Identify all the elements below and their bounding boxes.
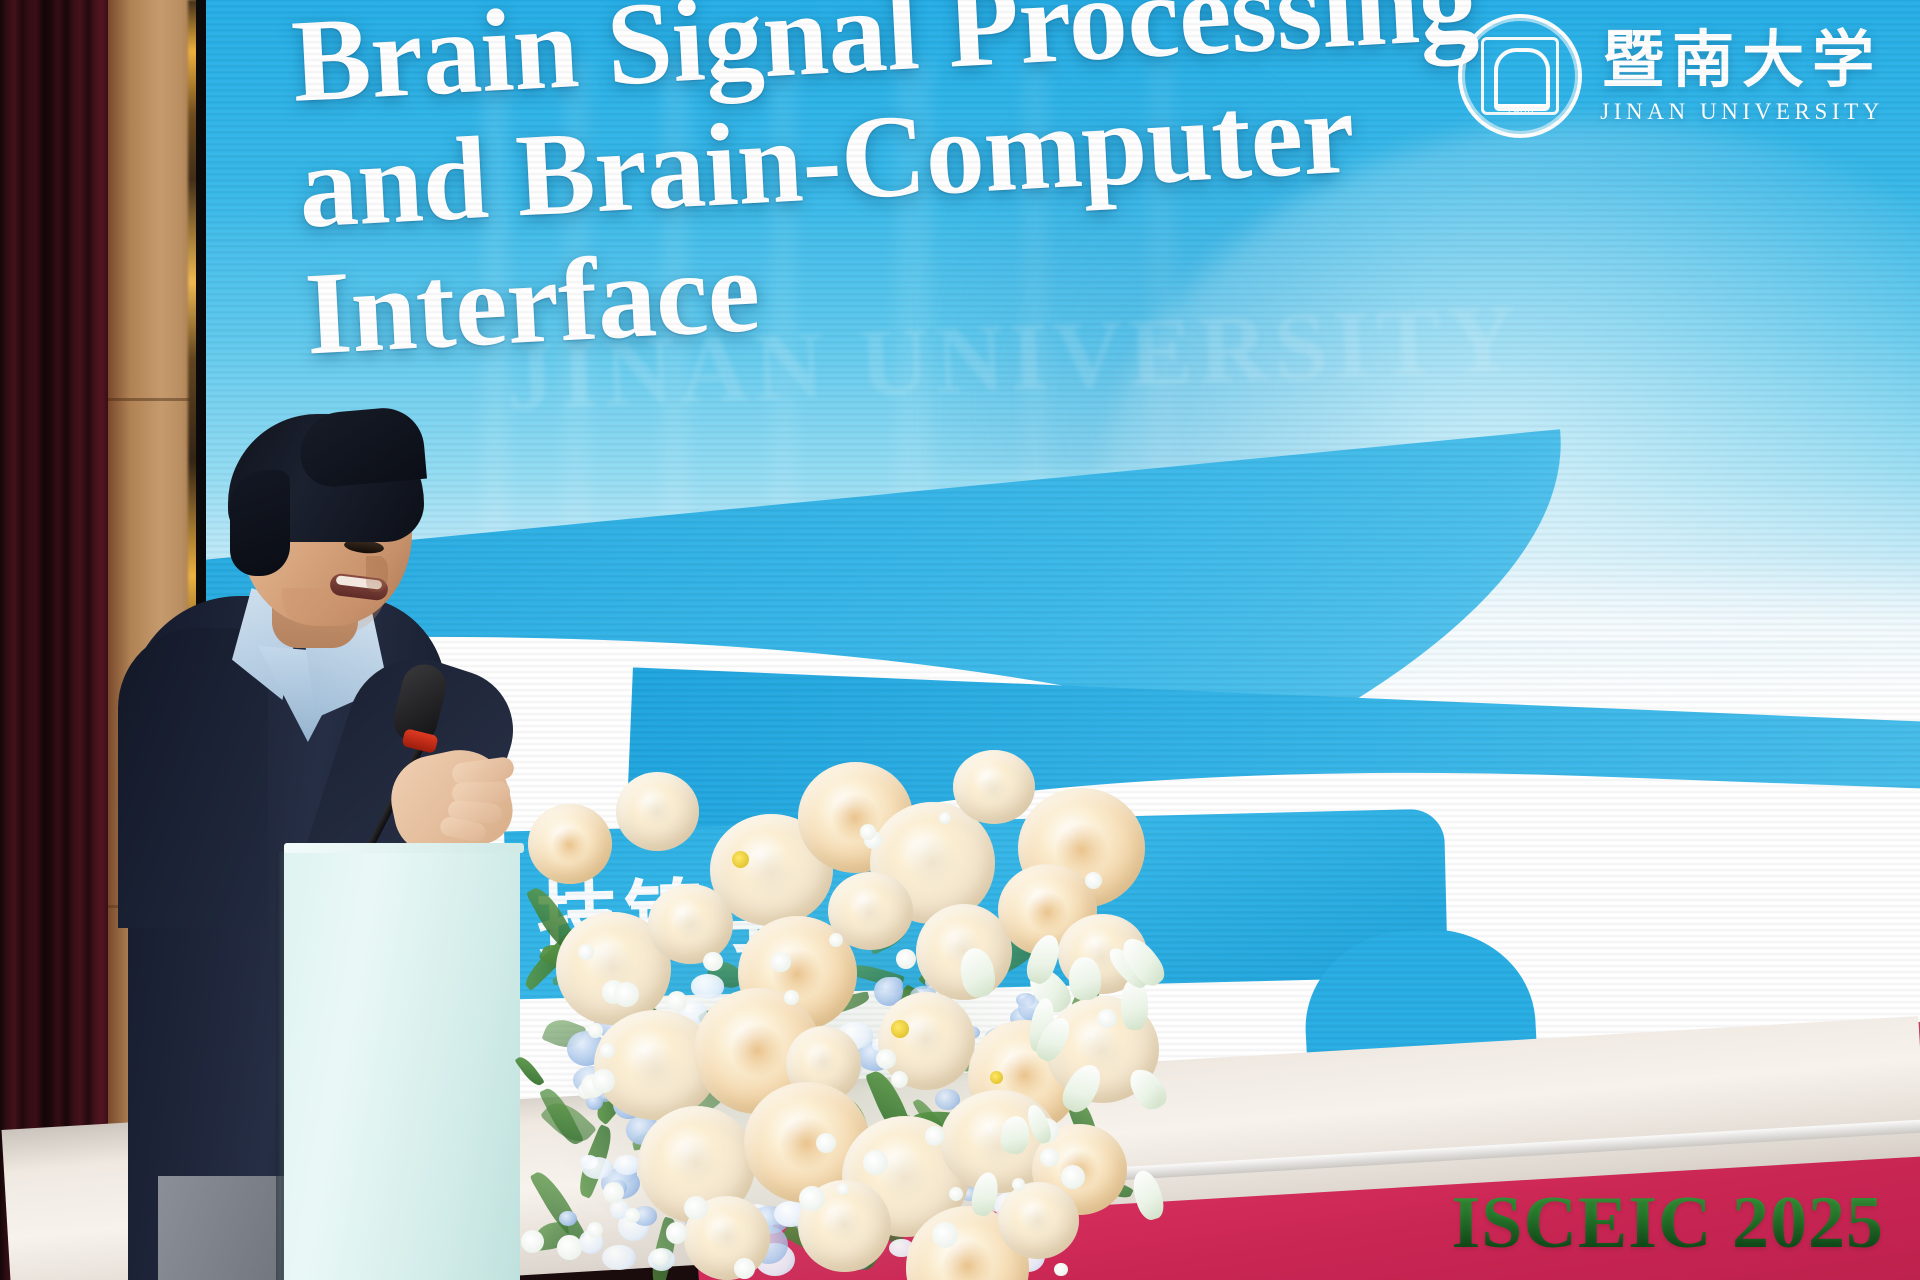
rose-center <box>906 837 958 889</box>
rose-center <box>673 908 709 944</box>
hydrangea-floret <box>691 974 725 998</box>
podium-top-surface <box>284 843 524 853</box>
rose-center <box>630 1045 682 1097</box>
jinan-university-logo: 1906 暨南大学 JINAN UNIVERSITY <box>1458 14 1884 138</box>
filler-bud <box>1061 1165 1085 1189</box>
rose-center <box>808 1047 840 1079</box>
seal-bell-icon <box>1494 48 1550 111</box>
filler-bud <box>1012 1178 1025 1191</box>
filler-bud <box>891 1071 908 1088</box>
speaker-hair-side <box>230 470 290 576</box>
filler-bud <box>703 952 723 972</box>
filler-bud <box>652 1249 668 1265</box>
seal-year: 1906 <box>1462 106 1578 118</box>
hydrangea-floret <box>602 1245 635 1270</box>
filler-bud <box>666 1222 687 1243</box>
rose-center <box>825 1206 864 1245</box>
filler-bud <box>784 990 799 1005</box>
filler-bud <box>588 1023 603 1038</box>
rose-center <box>1021 1205 1055 1239</box>
logo-wordmark: 暨南大学 JINAN UNIVERSITY <box>1600 29 1884 123</box>
filler-bud <box>1054 1263 1068 1277</box>
filler-bud <box>860 824 876 840</box>
filler-bud <box>990 1071 1003 1084</box>
filler-bud <box>891 1020 909 1038</box>
speaker-nose <box>366 556 388 592</box>
screenshot-root: JINAN UNIVERSITY 技锦学 Brain Signal Proces… <box>0 0 1920 1280</box>
filler-bud <box>1040 1148 1059 1167</box>
rose-center <box>906 1019 947 1060</box>
filler-bud <box>614 982 639 1007</box>
filler-bud <box>732 851 750 869</box>
conference-watermark: ISCEIC 2025 <box>1452 1181 1885 1266</box>
logo-english-name: JINAN UNIVERSITY <box>1600 100 1884 123</box>
filler-bud <box>932 1222 958 1248</box>
filler-bud <box>799 1186 824 1211</box>
logo-chinese-name: 暨南大学 <box>1602 29 1882 91</box>
filler-bud <box>587 1222 603 1238</box>
filler-bud <box>816 1133 836 1153</box>
speaker-left-shoulder <box>118 628 268 928</box>
rose-center <box>746 848 798 900</box>
filler-bud <box>592 1069 615 1092</box>
filler-bud <box>876 1049 896 1069</box>
filler-bud <box>625 1208 640 1223</box>
filler-bud <box>896 949 916 969</box>
curtain-folds <box>0 0 118 1280</box>
flower-arrangement <box>498 744 1138 1280</box>
hydrangea-floret <box>614 1155 640 1175</box>
filler-bud <box>667 991 688 1012</box>
filler-bud <box>939 812 951 824</box>
filler-bud <box>1097 1009 1116 1028</box>
filler-bud <box>557 1235 581 1259</box>
university-seal-icon: 1906 <box>1458 14 1582 138</box>
rose-center <box>853 896 889 932</box>
lily-bud <box>1068 956 1101 1000</box>
filler-bud <box>734 1258 755 1279</box>
rose-center <box>552 827 587 862</box>
rose-center <box>672 1139 721 1188</box>
hydrangea-floret <box>582 1157 613 1179</box>
filler-bud <box>603 1182 624 1203</box>
filler-bud <box>925 1126 944 1145</box>
speaker-podium <box>284 848 520 1280</box>
filler-bud <box>771 952 791 972</box>
